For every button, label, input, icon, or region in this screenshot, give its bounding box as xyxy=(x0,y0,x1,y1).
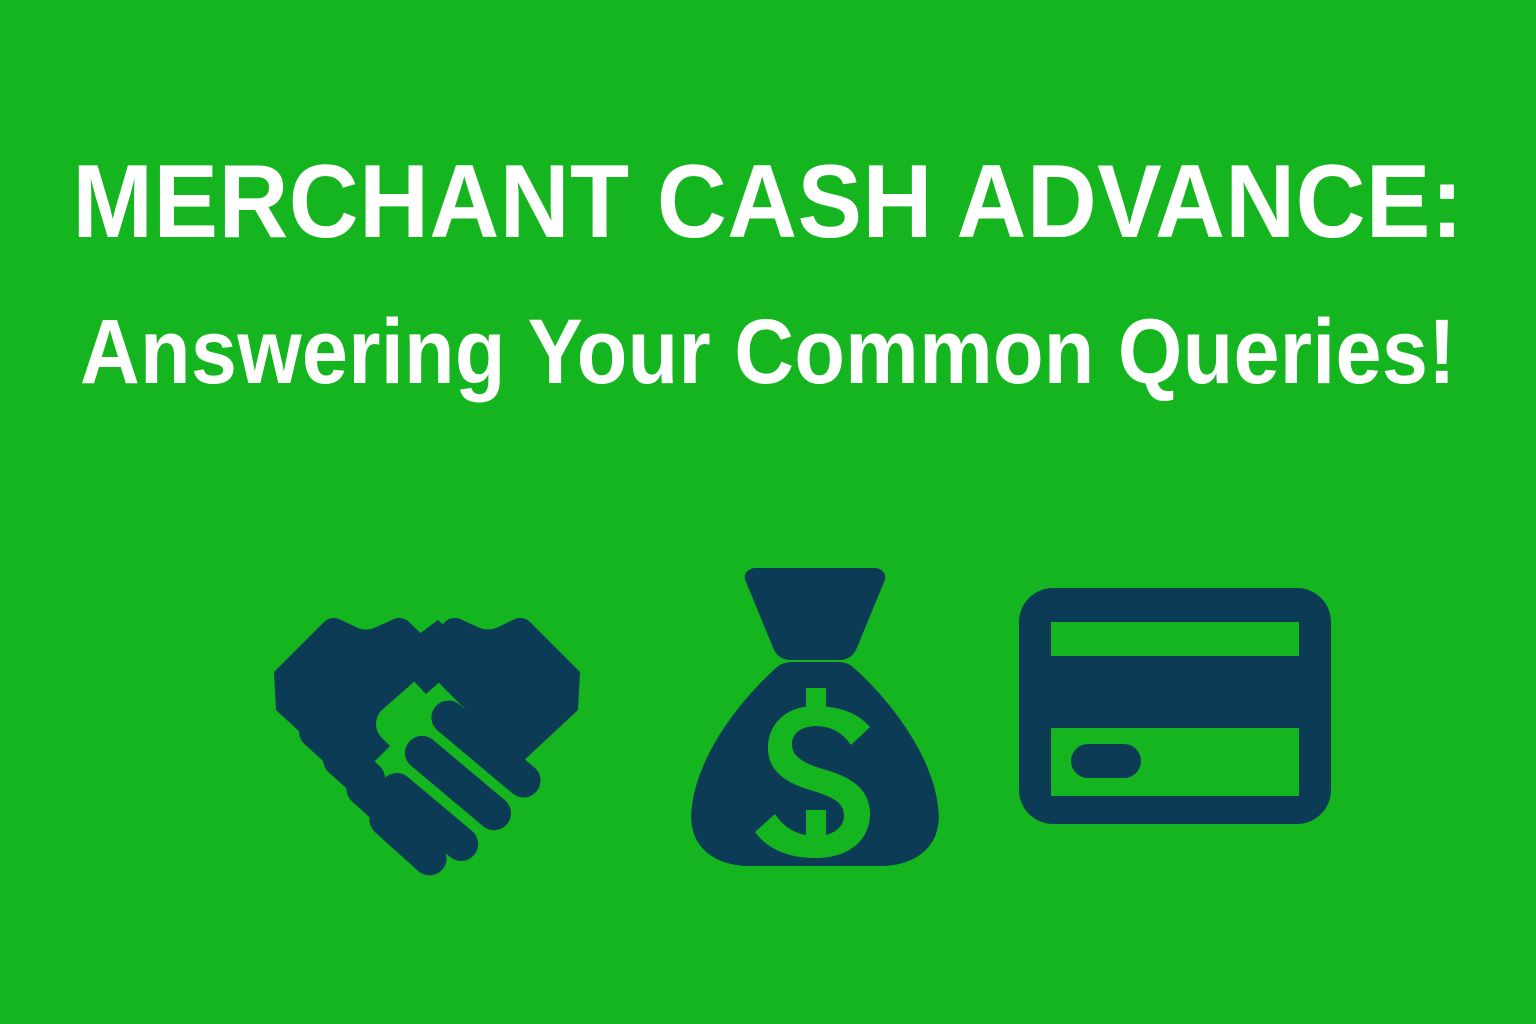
headline-primary: MERCHANT CASH ADVANCE: xyxy=(54,150,1482,254)
money-bag-icon xyxy=(680,560,950,870)
credit-card-icon xyxy=(1005,560,1345,860)
icon-row xyxy=(0,560,1536,880)
headline-block: MERCHANT CASH ADVANCE: Answering Your Co… xyxy=(0,150,1536,398)
promotional-banner: MERCHANT CASH ADVANCE: Answering Your Co… xyxy=(0,0,1536,1024)
handshake-icon xyxy=(262,560,592,860)
headline-secondary: Answering Your Common Queries! xyxy=(77,306,1459,398)
